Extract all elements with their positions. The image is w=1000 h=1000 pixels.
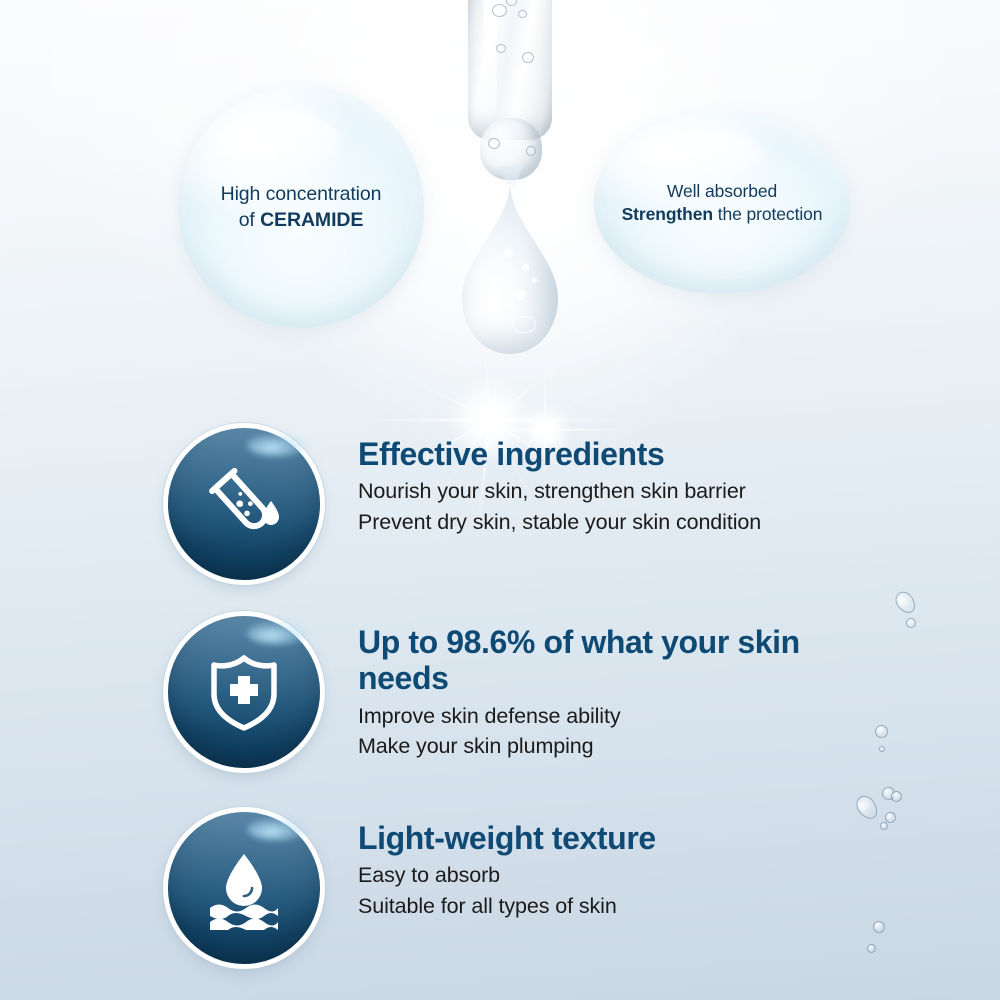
feature-line: Prevent dry skin, stable your skin condi… <box>358 507 761 538</box>
feature-row-effective-ingredients: Effective ingredients Nourish your skin,… <box>0 428 1000 580</box>
ceramide-line-1: High concentration <box>221 183 382 205</box>
info-bubble-absorbed-text: Well absorbed Strengthen the protection <box>622 180 823 227</box>
feature-title: Light-weight texture <box>358 820 656 856</box>
info-bubble-ceramide-text: High concentration of CERAMIDE <box>221 181 382 233</box>
feature-text-effective-ingredients: Effective ingredients Nourish your skin,… <box>358 428 761 538</box>
feature-title: Up to 98.6% of what your skin needs <box>358 624 808 697</box>
pipette-bubble-icon <box>492 4 507 17</box>
decorative-bubble-icon <box>879 746 885 752</box>
feature-line: Improve skin defense ability <box>358 701 808 732</box>
feature-title: Effective ingredients <box>358 436 761 472</box>
info-bubble-ceramide: High concentration of CERAMIDE <box>178 86 424 328</box>
badge-light-weight-texture <box>168 812 320 964</box>
decorative-bubble-icon <box>867 944 876 953</box>
serum-dropper-illustration <box>430 0 590 410</box>
feature-line: Nourish your skin, strengthen skin barri… <box>358 476 761 507</box>
shield-cross-icon <box>202 650 286 734</box>
decorative-bubble-icon <box>906 618 916 628</box>
absorb-keyword: Strengthen <box>622 204 713 224</box>
decorative-bubble-icon <box>891 791 902 802</box>
pipette-bubble-icon <box>488 138 500 149</box>
feature-row-skin-needs: Up to 98.6% of what your skin needs Impr… <box>0 616 1000 768</box>
decorative-bubble-icon <box>880 822 888 830</box>
pipette-bubble-icon <box>526 146 536 156</box>
feature-text-skin-needs: Up to 98.6% of what your skin needs Impr… <box>358 616 808 762</box>
info-bubble-absorbed: Well absorbed Strengthen the protection <box>594 112 850 294</box>
feature-line: Easy to absorb <box>358 860 656 891</box>
badge-skin-needs <box>168 616 320 768</box>
feature-line: Suitable for all types of skin <box>358 891 656 922</box>
ceramide-line-2-prefix: of <box>239 209 260 231</box>
badge-effective-ingredients <box>168 428 320 580</box>
feature-text-light-weight-texture: Light-weight texture Easy to absorb Suit… <box>358 812 656 922</box>
sparkle-ray <box>362 419 490 422</box>
pipette-bubble-icon <box>496 44 506 53</box>
pipette-bubble-icon <box>518 10 527 18</box>
water-drop-waves-icon <box>202 846 286 930</box>
decorative-bubble-icon <box>875 725 888 738</box>
absorb-line-1: Well absorbed <box>667 181 777 201</box>
feature-row-light-weight-texture: Light-weight texture Easy to absorb Suit… <box>0 812 1000 964</box>
pipette-bubble-icon <box>522 52 534 63</box>
product-infographic: High concentration of CERAMIDE Well abso… <box>0 0 1000 1000</box>
decorative-bubble-icon <box>885 812 896 823</box>
decorative-bubble-icon <box>892 588 919 617</box>
decorative-bubble-icon <box>873 921 885 933</box>
test-tube-icon <box>201 461 287 547</box>
sparkle-ray <box>490 419 622 422</box>
feature-line: Make your skin plumping <box>358 731 808 762</box>
absorb-line-2-suffix: the protection <box>713 204 822 224</box>
serum-droplet-icon <box>462 186 558 354</box>
ceramide-keyword: CERAMIDE <box>260 209 363 231</box>
